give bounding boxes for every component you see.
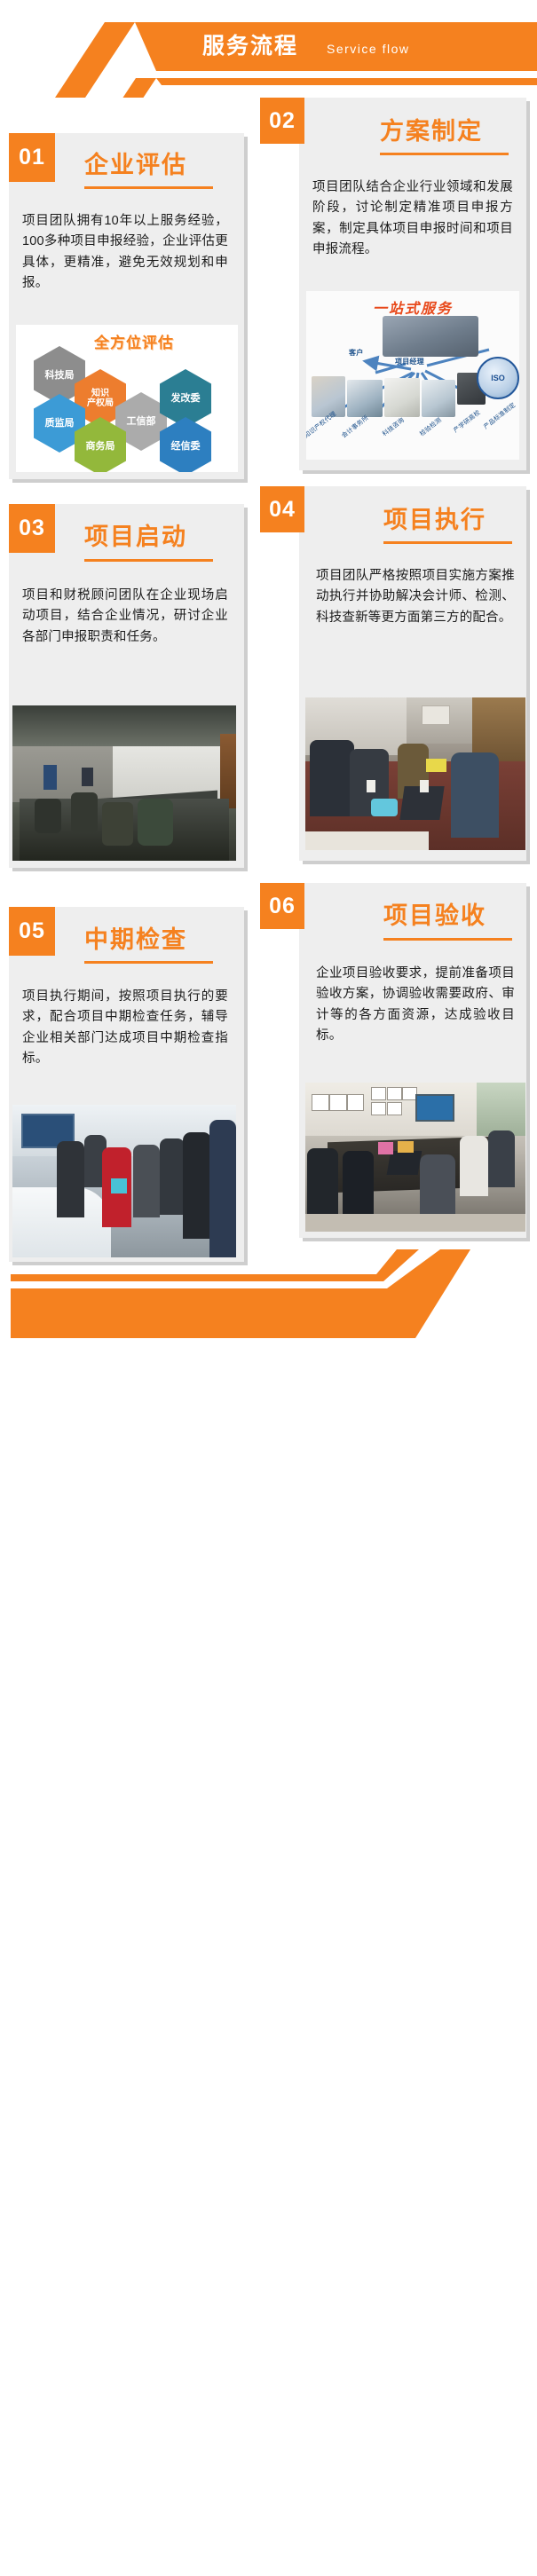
card-02-title-rule	[380, 153, 509, 155]
card-04-body: 项目团队严格按照项目实施方案推动执行并协助解决会计师、检测、科技查新等更方面第三…	[316, 566, 515, 628]
service-flow-poster: 服务流程 Service flow 01 企业评估 项目团队拥有10年以上服务经…	[0, 0, 537, 1365]
card-03-photo	[12, 705, 236, 861]
page-header: 服务流程 Service flow	[0, 0, 537, 93]
card-01-body: 项目团队拥有10年以上服务经验，100多种项目申报经验，企业评估更具体，更精准，…	[22, 211, 228, 295]
card-01-title-rule	[84, 186, 213, 189]
card-06-title: 项目验收	[383, 896, 486, 931]
card-06-body: 企业项目验收要求，提前准备项目验收方案，协调验收需要政府、审计等的各方面资源，达…	[316, 964, 515, 1047]
card-06-number-badge: 06	[260, 883, 304, 929]
hexagon-chart: 全方位评估 科技局 知识产权局 质监局 工信部 商务局 发改委 经信委	[16, 325, 238, 472]
card-02-body: 项目团队结合企业行业领域和发展阶段，讨论制定精准项目申报方案，制定具体项目申报时…	[312, 177, 513, 261]
card-02-number-badge: 02	[260, 98, 304, 144]
card-06-title-rule	[383, 938, 512, 941]
one-stop-service-client-label: 客户	[349, 348, 363, 358]
footer-banner-shape	[0, 1249, 537, 1365]
card-01-number-badge: 01	[9, 133, 55, 182]
one-stop-service-seal-icon: ISO	[477, 357, 519, 399]
card-06-photo	[305, 1083, 525, 1232]
one-stop-service-diagram: 一站式服务 客户 项目经理 ISO	[306, 291, 519, 460]
hex-node-6: 经信委	[160, 417, 211, 472]
hexagon-chart-title: 全方位评估	[94, 330, 174, 352]
page-title: 服务流程	[202, 35, 298, 58]
card-04-photo	[305, 697, 525, 850]
card-02-title: 方案制定	[380, 112, 483, 146]
one-stop-service-node-0-photo	[312, 376, 345, 417]
page-footer: 全国统一热线： 400-150-1560	[0, 1249, 537, 1365]
footer-hotline-label: 全国统一热线：	[51, 2555, 156, 2576]
card-05-photo	[12, 1105, 236, 1257]
one-stop-service-node-2-photo	[384, 378, 420, 417]
footer-hotline-number: 400-150-1560	[162, 2548, 316, 2576]
card-03-number-badge: 03	[9, 504, 55, 553]
one-stop-service-node-3-photo	[422, 380, 455, 417]
card-04-title: 项目执行	[383, 500, 486, 535]
card-05-title-rule	[84, 961, 213, 964]
card-03-title-rule	[84, 559, 213, 562]
one-stop-service-center-label: 项目经理	[395, 357, 424, 366]
page-subtitle: Service flow	[327, 42, 409, 56]
card-01-title: 企业评估	[84, 146, 187, 180]
card-03-title: 项目启动	[84, 517, 187, 552]
card-03-body: 项目和财税顾问团队在企业现场启动项目，结合企业情况，研讨企业各部门申报职责和任务…	[22, 586, 228, 648]
card-05-number-badge: 05	[9, 907, 55, 956]
card-04-number-badge: 04	[260, 486, 304, 532]
one-stop-service-hub-photo	[383, 316, 478, 357]
card-05-title: 中期检查	[84, 920, 187, 955]
card-05-body: 项目执行期间，按照项目执行的要求，配合项目中期检查任务，辅导企业相关部门达成项目…	[22, 987, 228, 1070]
card-04-title-rule	[383, 541, 512, 544]
one-stop-service-node-1-photo	[347, 380, 383, 417]
